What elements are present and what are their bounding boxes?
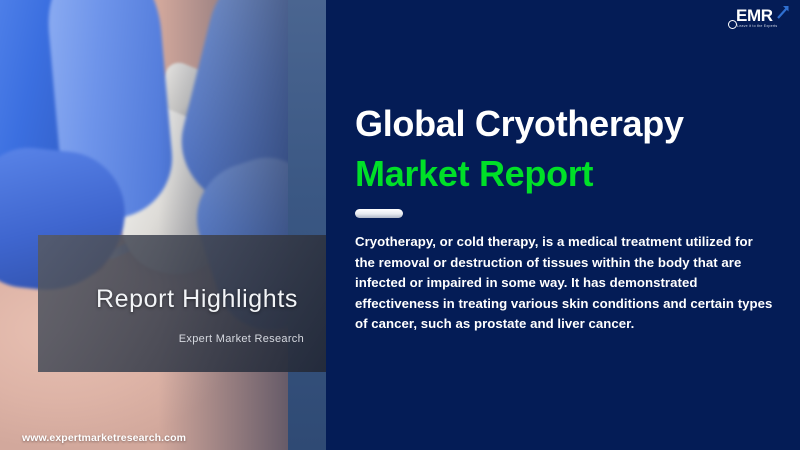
report-banner: Report Highlights Expert Market Research…	[0, 0, 800, 450]
growth-arrow-icon	[777, 5, 789, 19]
report-highlights-title: Report Highlights	[96, 285, 298, 314]
page-title: Global Cryotherapy Market Report	[355, 99, 684, 199]
photo-vignette	[0, 0, 288, 450]
report-highlights-card: Report Highlights Expert Market Research	[38, 235, 326, 372]
media-panel: Report Highlights Expert Market Research	[0, 0, 326, 450]
report-description: Cryotherapy, or cold therapy, is a medic…	[355, 232, 775, 335]
headline-line-2: Market Report	[355, 149, 684, 199]
emr-logo-text: EMR	[736, 7, 773, 24]
emr-logo[interactable]: EMR Leave it to the Experts	[728, 5, 790, 33]
report-highlights-subtitle: Expert Market Research	[179, 333, 304, 345]
cryotherapy-procedure-photo	[0, 0, 288, 450]
pill-divider	[355, 209, 403, 218]
headline-line-1: Global Cryotherapy	[355, 99, 684, 149]
emr-logo-tagline: Leave it to the Experts	[737, 24, 777, 28]
footer-website-url[interactable]: www.expertmarketresearch.com	[22, 432, 186, 444]
content-column: Global Cryotherapy Market Report Cryothe…	[355, 0, 785, 450]
accent-slab	[288, 0, 326, 450]
